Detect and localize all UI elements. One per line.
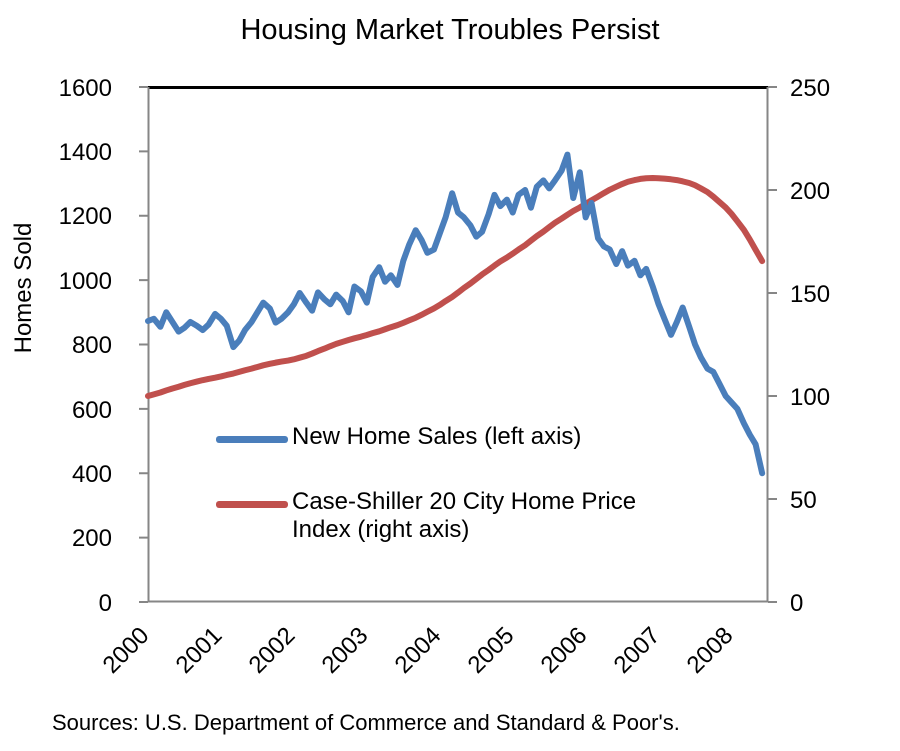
series-line-case-shiller [148, 178, 762, 396]
x-tick-2006: 2006 [536, 622, 594, 680]
y-tick-right-150: 150 [790, 281, 880, 309]
y-axis-ticks-right [768, 87, 777, 602]
y-tick-left-200: 200 [22, 525, 112, 553]
y-tick-right-50: 50 [790, 487, 880, 515]
x-tick-2007: 2007 [609, 622, 667, 680]
chart-figure: Housing Market Troubles Persist Homes So… [0, 0, 900, 751]
x-tick-2003: 2003 [317, 622, 375, 680]
y-tick-left-1200: 1200 [22, 203, 112, 231]
y-tick-left-800: 800 [22, 332, 112, 360]
x-tick-2001: 2001 [171, 622, 229, 680]
y-tick-left-1600: 1600 [22, 75, 112, 103]
x-tick-2002: 2002 [244, 622, 302, 680]
y-tick-left-0: 0 [22, 590, 112, 618]
legend-label-case-shiller-line2: Index (right axis) [292, 516, 469, 543]
legend-label-new-home-sales: New Home Sales (left axis) [292, 423, 722, 451]
y-tick-right-200: 200 [790, 178, 880, 206]
y-tick-left-400: 400 [22, 461, 112, 489]
legend-swatch-new-home-sales [216, 436, 288, 443]
x-tick-2000: 2000 [98, 622, 156, 680]
y-axis-ticks-left [139, 87, 148, 602]
x-tick-2004: 2004 [390, 622, 448, 680]
y-tick-left-600: 600 [22, 397, 112, 425]
y-tick-right-250: 250 [790, 75, 880, 103]
x-tick-2008: 2008 [682, 622, 740, 680]
legend-label-case-shiller-line1: Case-Shiller 20 City Home Price [292, 488, 636, 515]
y-tick-left-1000: 1000 [22, 268, 112, 296]
legend-swatch-case-shiller [216, 501, 288, 508]
y-tick-right-0: 0 [790, 590, 880, 618]
y-tick-left-1400: 1400 [22, 139, 112, 167]
source-note: Sources: U.S. Department of Commerce and… [52, 710, 680, 736]
legend-label-case-shiller: Case-Shiller 20 City Home Price Index (r… [292, 488, 722, 544]
y-tick-right-100: 100 [790, 384, 880, 412]
x-tick-2005: 2005 [463, 622, 521, 680]
chart-title: Housing Market Troubles Persist [0, 14, 900, 47]
